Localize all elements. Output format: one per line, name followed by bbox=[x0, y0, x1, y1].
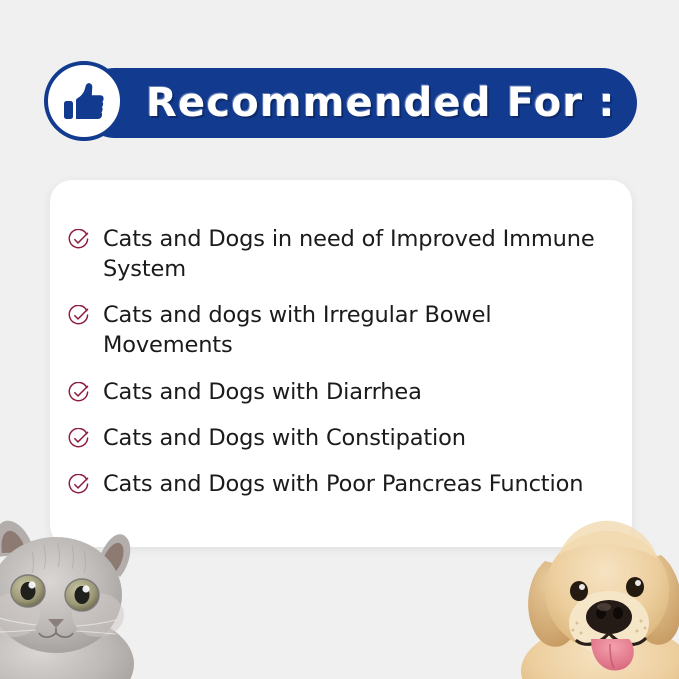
list-item-label: Cats and Dogs with Constipation bbox=[103, 423, 466, 453]
banner-title: Recommended For : bbox=[146, 83, 616, 123]
list-item: Cats and Dogs in need of Improved Immune… bbox=[68, 224, 622, 284]
list-item: Cats and Dogs with Diarrhea bbox=[68, 377, 622, 407]
list-item: Cats and dogs with Irregular Bowel Movem… bbox=[68, 300, 622, 360]
circle-check-icon bbox=[68, 474, 90, 496]
list-item: Cats and Dogs with Constipation bbox=[68, 423, 622, 453]
list-item-label: Cats and Dogs with Diarrhea bbox=[103, 377, 422, 407]
circle-check-icon bbox=[68, 305, 90, 327]
circle-check-icon bbox=[68, 428, 90, 450]
list-item: Cats and Dogs with Poor Pancreas Functio… bbox=[68, 469, 622, 499]
thumbs-up-badge bbox=[44, 61, 124, 141]
recommended-for-banner: Recommended For : bbox=[80, 68, 637, 138]
product-infographic: Recommended For : Cats and Dogs in n bbox=[0, 0, 679, 679]
thumbs-up-icon bbox=[60, 77, 108, 125]
list-item-label: Cats and Dogs in need of Improved Immune… bbox=[103, 224, 622, 284]
list-item-label: Cats and dogs with Irregular Bowel Movem… bbox=[103, 300, 622, 360]
recommendations-card: Cats and Dogs in need of Improved Immune… bbox=[50, 180, 632, 547]
golden-retriever-puppy-photo bbox=[511, 499, 679, 679]
list-item-label: Cats and Dogs with Poor Pancreas Functio… bbox=[103, 469, 583, 499]
grey-kitten-photo bbox=[0, 499, 160, 679]
circle-check-icon bbox=[68, 229, 90, 251]
recommendations-list: Cats and Dogs in need of Improved Immune… bbox=[68, 224, 622, 499]
circle-check-icon bbox=[68, 382, 90, 404]
